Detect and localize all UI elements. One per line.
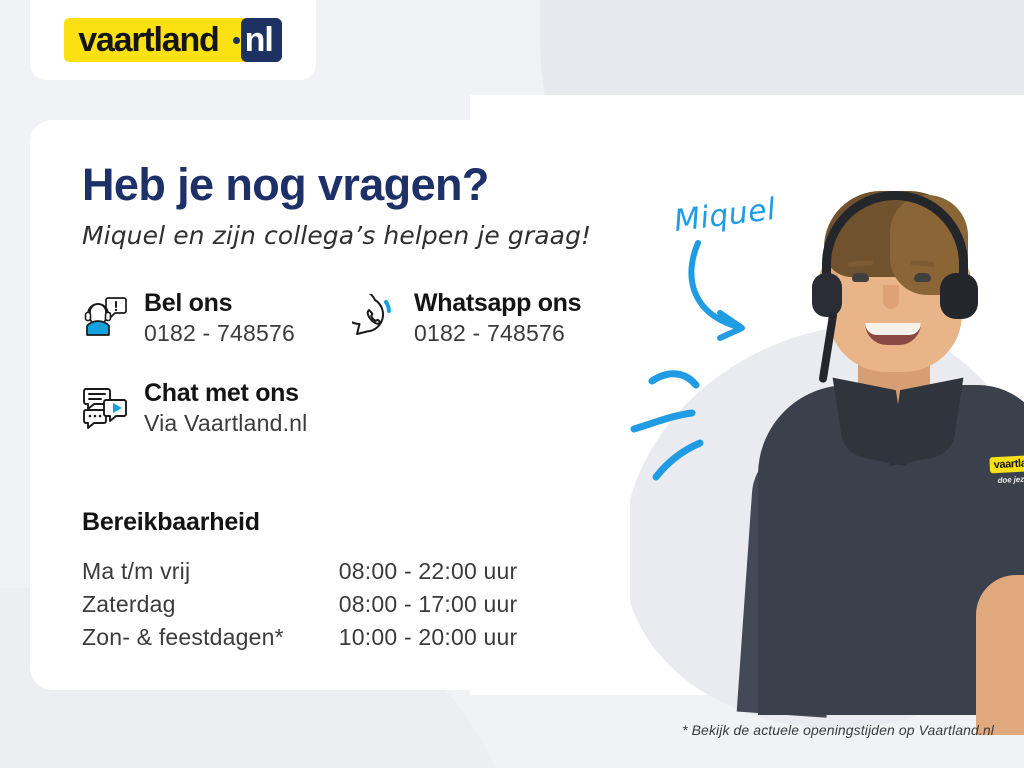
spark-lines-icon: [630, 355, 750, 485]
contact-method-value[interactable]: Via Vaartland.nl: [144, 410, 307, 437]
whatsapp-icon: [352, 294, 398, 340]
table-row: Ma t/m vrij 08:00 - 22:00 uur: [82, 555, 517, 588]
contact-method-text: Whatsapp ons 0182 - 748576: [414, 290, 581, 347]
contact-method-text: Bel ons 0182 - 748576: [144, 290, 295, 347]
chat-bubbles-icon: [82, 384, 128, 430]
vaartland-logo[interactable]: vaartland nl: [64, 18, 282, 62]
contact-method-chat[interactable]: Chat met ons Via Vaartland.nl: [82, 380, 307, 437]
availability-table: Ma t/m vrij 08:00 - 22:00 uur Zaterdag 0…: [82, 555, 517, 654]
availability-time: 08:00 - 22:00 uur: [339, 555, 518, 588]
contact-method-call[interactable]: Bel ons 0182 - 748576: [82, 290, 295, 347]
page-title: Heb je nog vragen?: [82, 162, 630, 207]
portrait-arm: [976, 575, 1024, 735]
contact-method-title: Chat met ons: [144, 379, 299, 407]
contact-method-title: Whatsapp ons: [414, 289, 581, 317]
headset-earcup-right: [940, 273, 978, 319]
headset-support-icon: [82, 294, 128, 340]
page-subtitle: Miquel en zijn collega’s helpen je graag…: [82, 221, 630, 250]
agent-portrait: vaartland nl doe jezelf een plezier: [740, 145, 1024, 705]
agent-photo-zone: Miquel vaartland nl: [620, 95, 1024, 695]
availability-day: Zon- & feestdagen*: [82, 621, 339, 654]
availability-day: Ma t/m vrij: [82, 555, 339, 588]
brand-logo-card[interactable]: vaartland nl: [30, 0, 316, 80]
logo-wordmark: vaartland: [64, 18, 228, 62]
contact-card: Heb je nog vragen? Miquel en zijn colleg…: [30, 120, 630, 690]
contact-method-value[interactable]: 0182 - 748576: [144, 320, 295, 347]
contact-method-title: Bel ons: [144, 289, 232, 317]
polo-logo-wordmark: vaartland: [989, 455, 1024, 474]
logo-tld: nl: [241, 18, 282, 62]
contact-method-whatsapp[interactable]: Whatsapp ons 0182 - 748576: [352, 290, 581, 347]
availability-day: Zaterdag: [82, 588, 339, 621]
headset-microphone-icon: [818, 311, 837, 383]
footnote-text: * Bekijk de actuele openingstijden op Va…: [682, 722, 994, 738]
headset-earcup-left: [812, 273, 842, 317]
availability-section: Bereikbaarheid Ma t/m vrij 08:00 - 22:00…: [82, 508, 517, 654]
polo-shirt-logo: vaartland nl doe jezelf een plezier: [989, 453, 1024, 486]
contact-method-text: Chat met ons Via Vaartland.nl: [144, 380, 307, 437]
table-row: Zon- & feestdagen* 10:00 - 20:00 uur: [82, 621, 517, 654]
availability-time: 10:00 - 20:00 uur: [339, 621, 518, 654]
availability-time: 08:00 - 17:00 uur: [339, 588, 518, 621]
contact-method-value[interactable]: 0182 - 748576: [414, 320, 581, 347]
polo-logo-tagline: doe jezelf een plezier: [990, 472, 1024, 486]
availability-title: Bereikbaarheid: [82, 508, 517, 537]
table-row: Zaterdag 08:00 - 17:00 uur: [82, 588, 517, 621]
